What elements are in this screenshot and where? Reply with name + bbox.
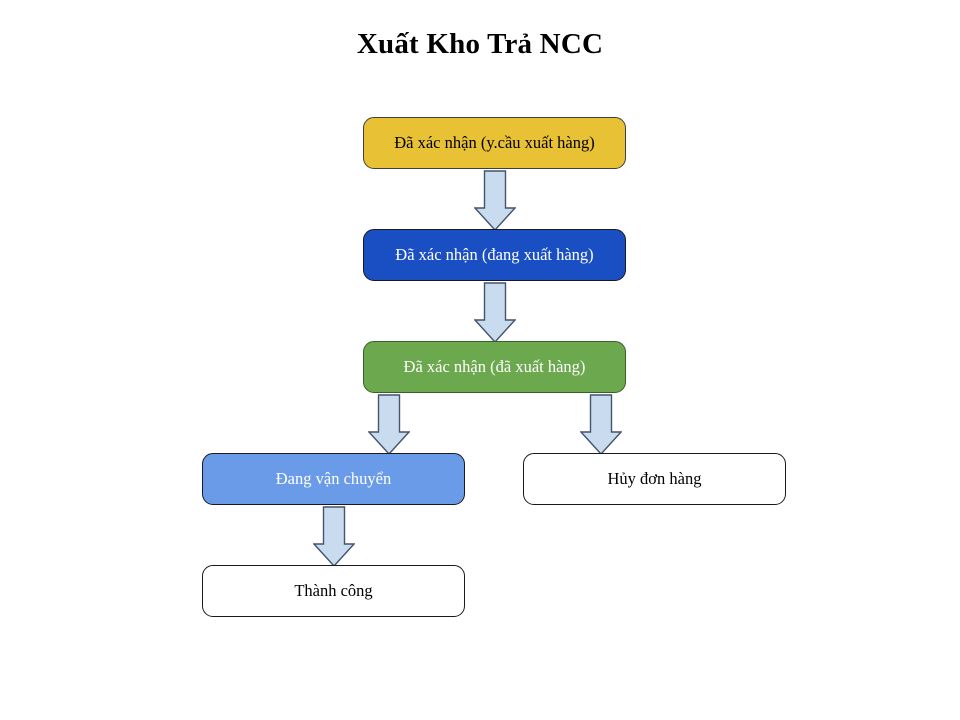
diagram-canvas: Xuất Kho Trả NCC Đã xác nhận (y.cầu xuất… [0,0,960,720]
arrow-down-icon-2 [474,282,516,343]
node-da-xac-nhan-yeu-cau-xuat-hang[interactable]: Đã xác nhận (y.cầu xuất hàng) [363,117,626,169]
node-huy-don-hang[interactable]: Hủy đơn hàng [523,453,786,505]
arrow-down-icon-1 [474,170,516,231]
node-label: Đã xác nhận (đã xuất hàng) [404,358,586,377]
node-label: Hủy đơn hàng [608,470,702,489]
arrow-down-icon-3 [368,394,410,455]
node-label: Đã xác nhận (đang xuất hàng) [395,246,593,265]
node-label: Đã xác nhận (y.cầu xuất hàng) [394,134,595,153]
arrow-down-icon-4 [580,394,622,455]
node-da-xac-nhan-da-xuat-hang[interactable]: Đã xác nhận (đã xuất hàng) [363,341,626,393]
node-da-xac-nhan-dang-xuat-hang[interactable]: Đã xác nhận (đang xuất hàng) [363,229,626,281]
page-title: Xuất Kho Trả NCC [0,28,960,61]
node-thanh-cong[interactable]: Thành công [202,565,465,617]
arrow-down-icon-5 [313,506,355,567]
node-label: Đang vận chuyển [276,470,391,489]
node-label: Thành công [294,582,372,601]
node-dang-van-chuyen[interactable]: Đang vận chuyển [202,453,465,505]
